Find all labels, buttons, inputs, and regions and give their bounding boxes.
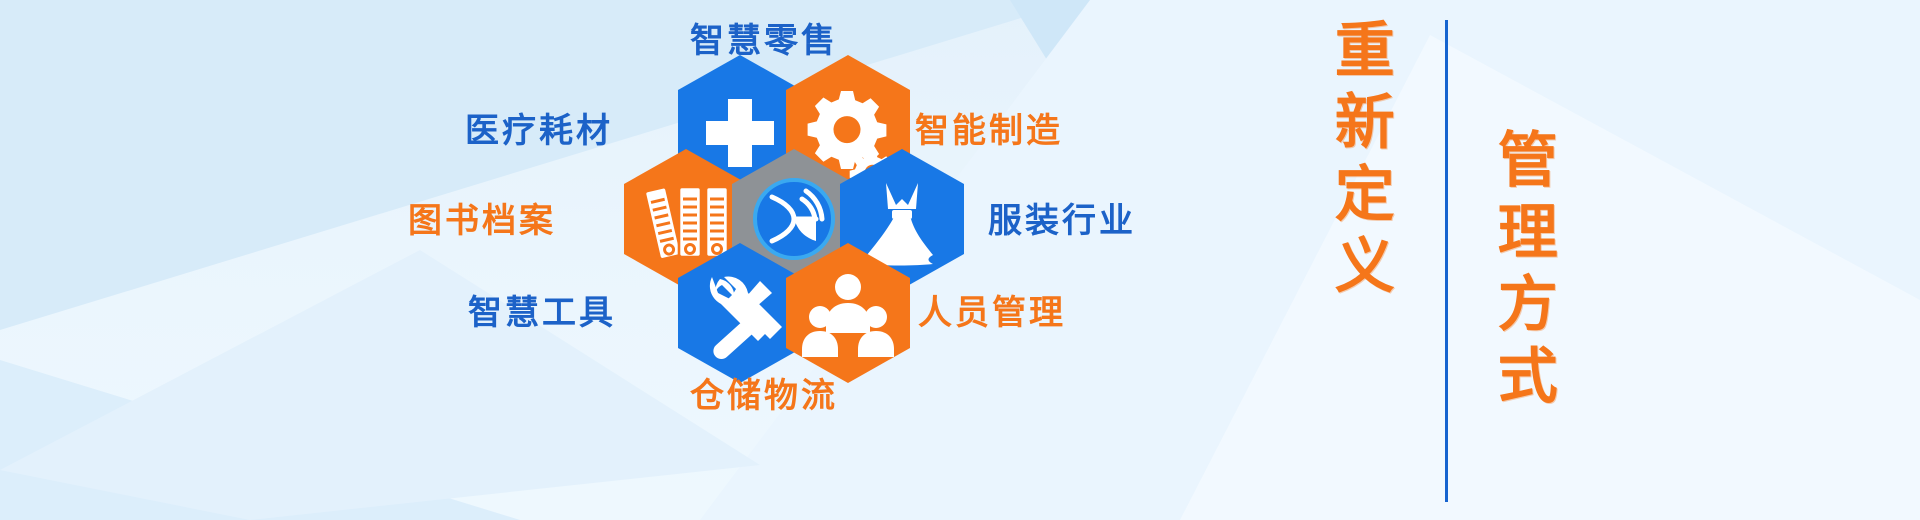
vertical-divider	[1445, 20, 1448, 502]
label-people: 人员管理	[918, 285, 1066, 334]
label-warehouse: 仓储物流	[690, 368, 838, 417]
calligraphy-block: 重新定义 管理方式	[1290, 0, 1620, 520]
label-clothing: 服装行业	[988, 193, 1136, 242]
banner-root: 智慧零售 医疗耗材 智能制造 图书档案 服装行业 智慧工具 人员管理 仓储物流 …	[0, 0, 1920, 520]
label-medical: 医疗耗材	[465, 103, 613, 152]
label-retail: 智慧零售	[690, 13, 838, 62]
calligraphy-left-column: 重新定义	[1325, 18, 1392, 306]
label-tools: 智慧工具	[468, 285, 616, 334]
calligraphy-right-column: 管理方式	[1488, 128, 1555, 416]
label-manufacture: 智能制造	[915, 103, 1063, 152]
label-books: 图书档案	[408, 193, 556, 242]
